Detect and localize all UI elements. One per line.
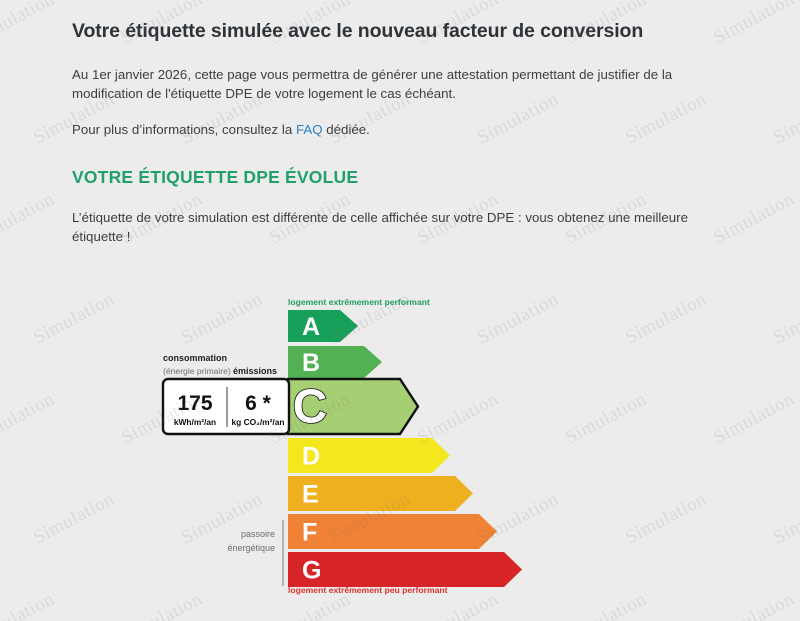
consumption-unit: kWh/m²/an: [174, 417, 216, 427]
dpe-caption-bottom: logement extrêmement peu performant: [288, 585, 448, 595]
dpe-bar-a: [288, 310, 358, 342]
dpe-bar-g: [288, 552, 522, 587]
faq-link[interactable]: FAQ: [296, 122, 323, 137]
dpe-bar-letter-c: C: [293, 381, 328, 434]
emissions-unit: kg CO₂/m²/an: [231, 417, 284, 427]
dpe-bar-letter-f: F: [302, 519, 317, 547]
dpe-value-box: 175 kWh/m²/an 6 * kg CO₂/m²/an: [163, 379, 289, 434]
dpe-caption-top: logement extrêmement performant: [288, 297, 430, 307]
dpe-bar-letter-a: A: [302, 313, 320, 341]
consumption-value: 175: [177, 392, 212, 415]
dpe-bar-letter-b: B: [302, 349, 320, 377]
dpe-grade-bars: ABCDEFG: [288, 310, 522, 587]
faq-text-after: dédiée.: [323, 122, 370, 137]
dpe-bar-letter-g: G: [302, 557, 321, 585]
consumption-header: consommation: [163, 353, 227, 363]
passoire-label-line2: énergétique: [227, 543, 275, 553]
emissions-value: 6 *: [245, 392, 272, 415]
section-paragraph: L’étiquette de votre simulation est diff…: [72, 208, 692, 247]
passoire-label-line1: passoire: [241, 529, 275, 539]
emissions-header: émissions: [233, 366, 277, 376]
intro-paragraph: Au 1er janvier 2026, cette page vous per…: [72, 65, 692, 104]
dpe-bar-letter-e: E: [302, 481, 319, 509]
consumption-subheader: (énergie primaire): [163, 366, 231, 376]
faq-text-before: Pour plus d’informations, consultez la: [72, 122, 296, 137]
page-title: Votre étiquette simulée avec le nouveau …: [72, 20, 728, 43]
passoire-energetique-marker: passoire énergétique: [227, 520, 283, 586]
dpe-bar-f: [288, 514, 497, 549]
dpe-energy-label: logement extrêmement performant ABCDEFG …: [0, 288, 800, 608]
dpe-bar-letter-d: D: [302, 443, 320, 471]
faq-paragraph: Pour plus d’informations, consultez la F…: [72, 120, 692, 139]
section-title: VOTRE ÉTIQUETTE DPE ÉVOLUE: [72, 167, 728, 188]
page-content: Votre étiquette simulée avec le nouveau …: [0, 0, 800, 246]
